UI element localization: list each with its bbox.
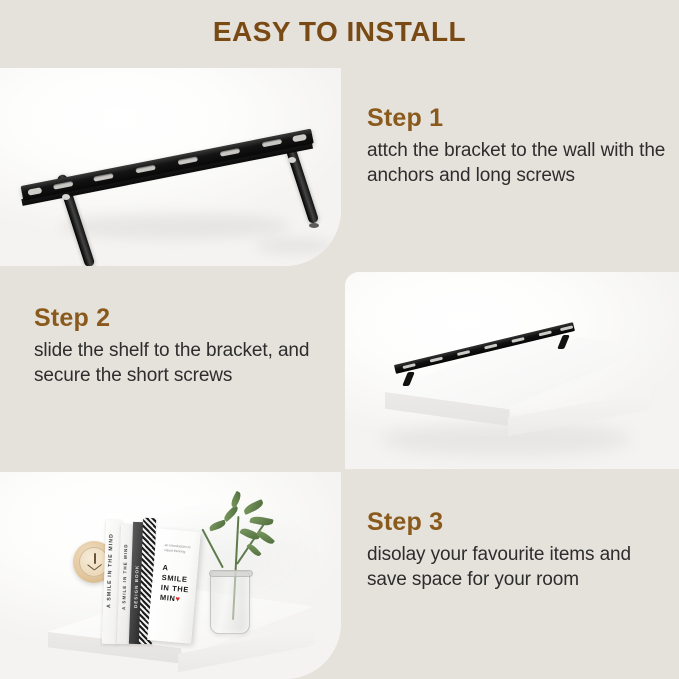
step-2-heading: Step 2 — [34, 304, 334, 333]
step-2-image-panel — [345, 272, 679, 469]
bracket-slot-4 — [484, 344, 497, 350]
front-book-line-3: MIN — [160, 593, 176, 603]
bracket-slot-6 — [539, 330, 552, 336]
bracket-slot-2 — [93, 173, 114, 182]
step-3-image-panel: A SMILE IN THE MIND A SMILE IN THE MIND … — [0, 472, 341, 679]
clock-hand-hour — [94, 553, 96, 564]
book-spine-3-title: DESIGN BOOK — [133, 565, 140, 608]
bracket-slot-7 — [560, 325, 573, 331]
bracket-slot-1 — [53, 181, 74, 190]
bracket-slot-3 — [457, 350, 470, 356]
bracket-slot-5 — [220, 148, 241, 157]
bracket-slot-end-left — [27, 187, 42, 196]
rod-collar-left — [62, 194, 70, 200]
step-1-heading: Step 1 — [367, 104, 667, 133]
clock-hand-second — [87, 564, 95, 571]
rod-drop-shadow-right — [255, 238, 335, 254]
clock-hand-minute — [94, 564, 102, 571]
bracket-slot-5 — [511, 337, 524, 343]
step-1-body: attch the bracket to the wall with the a… — [367, 138, 667, 188]
glass-vase — [210, 571, 250, 634]
support-rod-right-cap — [309, 223, 319, 228]
step-2-body: slide the shelf to the bracket, and secu… — [34, 338, 334, 388]
front-book-subtitle: an introduction to visual thinking — [164, 543, 195, 556]
vase-rim — [209, 570, 253, 577]
book-spine-2-title: A SMILE IN THE MIND — [121, 543, 128, 610]
bracket-drop-shadow — [60, 213, 290, 239]
rod-collar-right — [288, 157, 296, 163]
step-1-image-panel — [0, 68, 341, 266]
bracket-rail — [21, 129, 314, 201]
front-book-line-1: A SMILE — [161, 563, 188, 584]
step-3-heading: Step 3 — [367, 508, 672, 537]
step-1-text-block: Step 1 attch the bracket to the wall wit… — [367, 104, 667, 188]
front-book-title: A SMILE IN THE MIN♥ — [159, 563, 192, 605]
heart-icon: ♥ — [175, 594, 181, 603]
wall-bracket-illustration — [0, 68, 341, 266]
styled-shelf-illustration: A SMILE IN THE MIND A SMILE IN THE MIND … — [0, 472, 341, 679]
step-2-text-block: Step 2 slide the shelf to the bracket, a… — [34, 304, 334, 388]
book-spine-1-title: A SMILE IN THE MIND — [106, 533, 115, 608]
shelf-drop-shadow — [381, 422, 631, 456]
bracket-slot-6 — [262, 139, 283, 148]
page-title: EASY TO INSTALL — [0, 16, 679, 48]
bracket-slot-end-right — [292, 134, 307, 143]
shelf-with-bracket-illustration — [345, 272, 679, 469]
step-3-text-block: Step 3 disolay your favourite items and … — [367, 508, 672, 592]
step-3-body: disolay your favourite items and save sp… — [367, 542, 672, 592]
bracket-slot-2 — [430, 357, 443, 363]
bracket-slot-3 — [135, 165, 156, 174]
bracket-slot-4 — [177, 156, 198, 165]
bracket-slot-1 — [402, 363, 415, 369]
